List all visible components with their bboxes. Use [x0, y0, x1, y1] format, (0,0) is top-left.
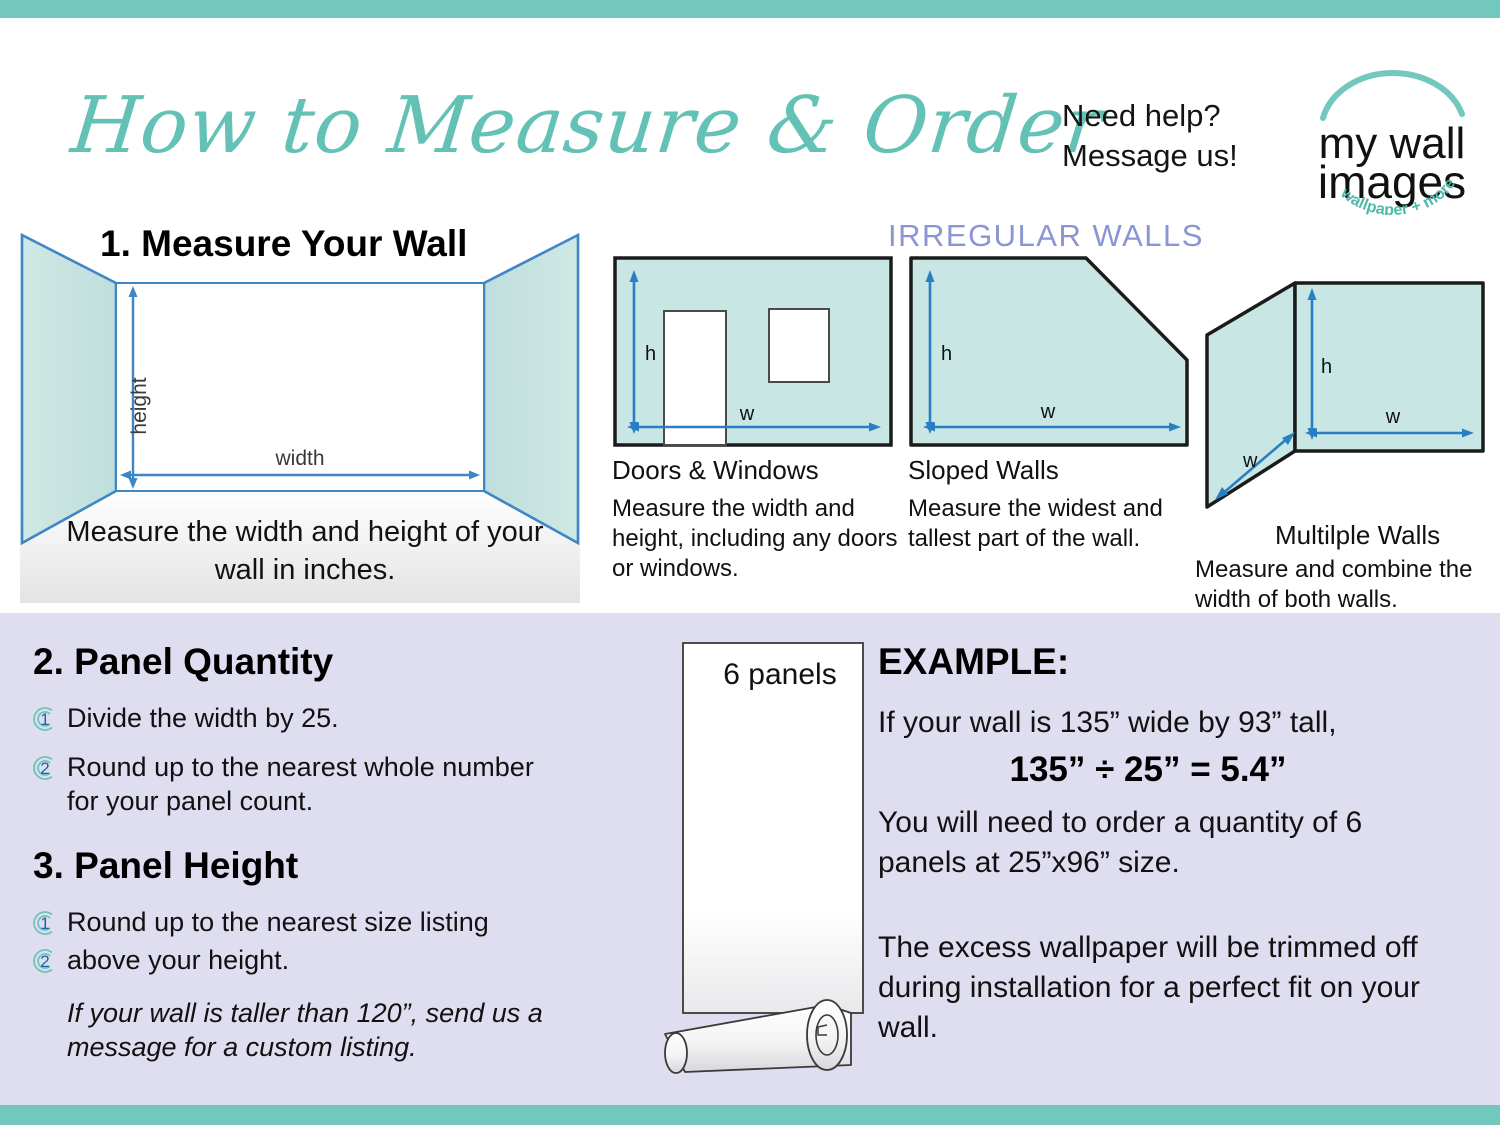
- brand-logo: my wall images wallpaper + more: [1305, 70, 1480, 215]
- section2-bullet-1: Divide the width by 25.: [67, 701, 339, 735]
- multiple-walls-title: Multilple Walls: [1275, 520, 1495, 551]
- multiple-walls-diagram: h w w: [1195, 255, 1495, 513]
- svg-text:1: 1: [40, 710, 49, 729]
- need-help-line-1: Need help?: [1062, 96, 1292, 136]
- example-line-2: You will need to order a quantity of 6 p…: [878, 803, 1438, 883]
- number-badge-2-icon: 2: [30, 946, 60, 976]
- section3-bullet-2: above your height.: [67, 943, 289, 977]
- w-label: w: [1385, 406, 1401, 428]
- example-heading: EXAMPLE:: [878, 641, 1069, 683]
- h-label: h: [941, 343, 952, 365]
- width-label: width: [274, 447, 324, 470]
- measure-wall-section: height width 1. Measure Your Wall Measur…: [0, 213, 600, 603]
- sloped-walls-title: Sloped Walls: [908, 455, 1198, 486]
- height-label: height: [128, 377, 151, 434]
- irregular-item-doors-windows: h w Doors & Windows Measure the width an…: [612, 255, 902, 584]
- number-badge-1-icon: 1: [30, 704, 60, 734]
- svg-text:2: 2: [40, 759, 49, 778]
- section2-bullet-2: Round up to the nearest whole number for…: [67, 750, 570, 818]
- multiple-walls-body: Measure and combine the width of both wa…: [1195, 555, 1495, 615]
- lower-panel: 2. Panel Quantity 1 Divide the width by …: [0, 613, 1500, 1105]
- irregular-item-sloped-walls: h w Sloped Walls Measure the widest and …: [908, 255, 1198, 554]
- example-line-3: The excess wallpaper will be trimmed off…: [878, 928, 1438, 1048]
- section1-caption: Measure the width and height of your wal…: [60, 513, 550, 589]
- irregular-item-multiple-walls: h w w Multilple Walls Measure and combin…: [1195, 255, 1495, 615]
- section3-bullet-1: Round up to the nearest size listing: [67, 905, 489, 939]
- section2-heading: 2. Panel Quantity: [33, 641, 333, 683]
- w-label: w: [739, 403, 755, 425]
- section3-note-row: If your wall is taller than 120”, send u…: [67, 996, 587, 1064]
- page-title: How to Measure & Order: [66, 66, 1019, 186]
- number-badge-2-icon: 2: [30, 753, 60, 783]
- page-header: How to Measure & Order Need help? Messag…: [0, 18, 1500, 213]
- doors-windows-diagram: h w: [612, 255, 902, 448]
- doors-windows-body: Measure the width and height, including …: [612, 494, 902, 584]
- wallpaper-roll-illustration: [655, 635, 895, 1085]
- list-item: 1 Round up to the nearest size listing: [30, 905, 590, 939]
- section1-heading: 1. Measure Your Wall: [100, 223, 467, 265]
- section3-note: If your wall is taller than 120”, send u…: [67, 996, 587, 1064]
- w-label: w: [1040, 401, 1056, 423]
- svg-text:2: 2: [40, 952, 49, 971]
- roll-panel-count-label: 6 panels: [700, 658, 860, 692]
- sloped-walls-body: Measure the widest and tallest part of t…: [908, 494, 1198, 554]
- list-item: 2 Round up to the nearest whole number f…: [30, 750, 570, 818]
- number-badge-1-icon: 1: [30, 908, 60, 938]
- bottom-accent-bar: [0, 1105, 1500, 1125]
- list-item: 2 above your height.: [30, 943, 590, 977]
- section3-heading: 3. Panel Height: [33, 845, 298, 887]
- svg-text:1: 1: [40, 914, 49, 933]
- need-help-line-2: Message us!: [1062, 136, 1292, 176]
- top-accent-bar: [0, 0, 1500, 18]
- sloped-walls-diagram: h w: [908, 255, 1198, 448]
- need-help-block: Need help? Message us!: [1062, 96, 1292, 176]
- list-item: 1 Divide the width by 25.: [30, 701, 570, 735]
- w-label-side: w: [1242, 450, 1258, 472]
- doors-windows-title: Doors & Windows: [612, 455, 902, 486]
- example-line-1: If your wall is 135” wide by 93” tall,: [878, 703, 1438, 743]
- irregular-walls-heading: IRREGULAR WALLS: [888, 218, 1204, 254]
- example-equation: 135” ÷ 25” = 5.4”: [878, 750, 1418, 790]
- h-label: h: [1321, 356, 1332, 378]
- h-label: h: [645, 343, 656, 365]
